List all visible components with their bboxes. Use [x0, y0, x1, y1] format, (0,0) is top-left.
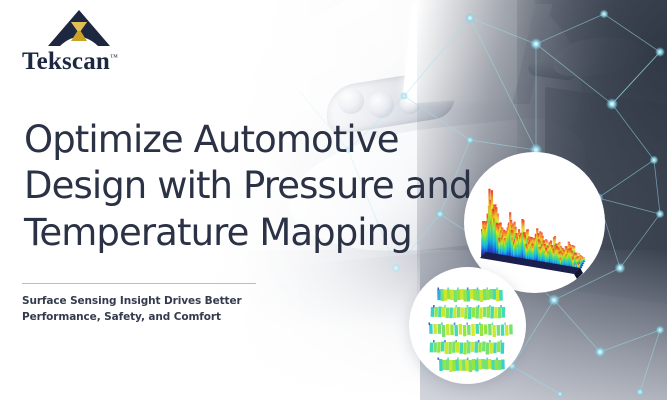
logo-wordmark-text: Tekscan — [22, 48, 110, 75]
tire-map-inset — [409, 267, 526, 384]
tekscan-logo[interactable]: Tekscan™ — [22, 8, 142, 74]
subtitle: Surface Sensing Insight Drives Better Pe… — [22, 294, 274, 325]
subtitle-line-2: Safety, and Comfort — [104, 311, 221, 323]
banner-canvas: Tekscan™ Optimize Automotive Design with… — [0, 0, 667, 400]
gold-divider-rule — [22, 283, 256, 284]
tire-tread-pressure-map-chart — [409, 267, 526, 384]
page-title: Optimize Automotive Design with Pressure… — [24, 117, 454, 257]
logo-wordmark: Tekscan™ — [22, 49, 142, 74]
trademark-symbol: ™ — [110, 53, 118, 62]
tekscan-triangle-logo-icon — [46, 8, 112, 48]
headline-line-1: Optimize Automotive — [24, 117, 454, 164]
headline-line-3: Temperature Mapping — [24, 210, 454, 257]
headline-line-2: Design with Pressure and — [24, 163, 454, 210]
